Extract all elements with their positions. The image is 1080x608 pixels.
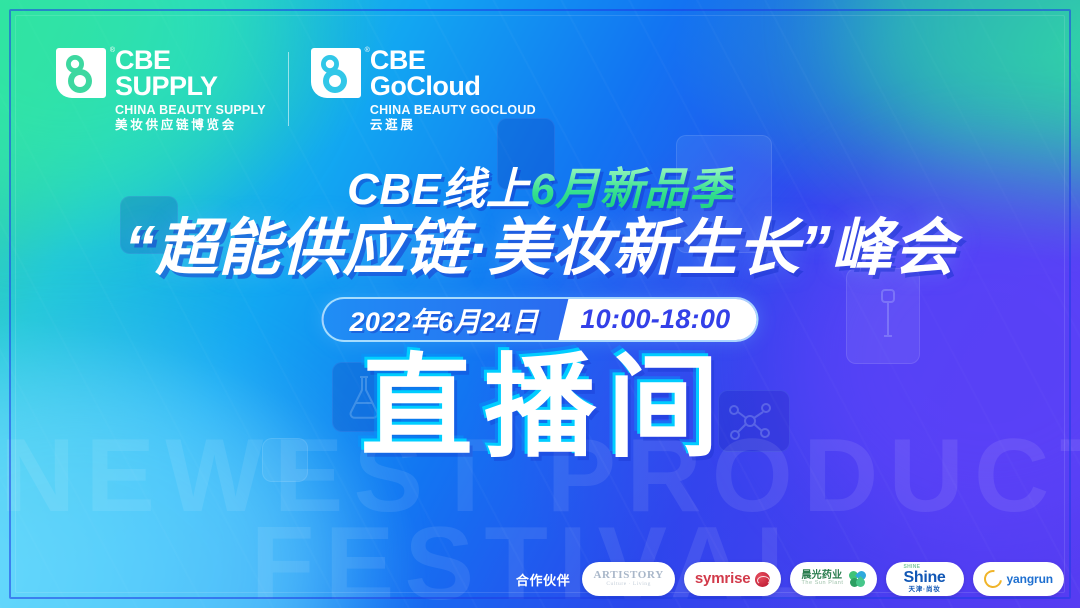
- partner-sub: Culture · Living: [593, 582, 663, 588]
- logo-line-2: SUPPLY: [115, 74, 266, 100]
- cbe-monogram-icon: ®: [56, 48, 106, 98]
- partners-row: 合作伙伴 ARTISTORY Culture · Living symrise …: [516, 562, 1064, 596]
- logo-english: CHINA BEAUTY GOCLOUD: [370, 104, 536, 116]
- ring-icon: [980, 566, 1005, 591]
- logo-cbe-gocloud: ® CBE GoCloud CHINA BEAUTY GOCLOUD 云逛展: [311, 48, 536, 131]
- partner-name-text: ARTISTORY: [593, 569, 663, 581]
- event-time: 10:00-18:00: [558, 299, 756, 340]
- logo-english: CHINA BEAUTY SUPPLY: [115, 104, 266, 116]
- promo-poster: NEWEST PRODUCTS FESTIVAL ® CBE SUPPLY CH…: [0, 0, 1080, 608]
- globe-icon: [755, 572, 770, 587]
- headline-green-part: 6月新品季: [530, 165, 733, 214]
- cbe-mark-svg: [311, 48, 361, 98]
- logo-cbe-supply: ® CBE SUPPLY CHINA BEAUTY SUPPLY 美妆供应链博览…: [56, 48, 266, 131]
- schedule-badge: 2022年6月24日 10:00-18:00: [322, 297, 759, 342]
- partner-logo-shine[interactable]: SHINE Shine 天津·尚妆: [886, 562, 964, 596]
- logo-chinese: 云逛展: [370, 119, 536, 131]
- partner-name: ARTISTORY Culture · Living: [593, 570, 663, 587]
- logo-divider: [288, 52, 289, 126]
- headline-line-1: CBE线上6月新品季: [0, 168, 1080, 212]
- headline-white-part: CBE线上: [347, 165, 530, 214]
- partner-name: 晨光药业 The Sun Plant: [801, 571, 843, 587]
- partner-sub: The Sun Plant: [801, 581, 843, 587]
- partner-name-text: 晨光药业: [801, 570, 842, 581]
- partner-logo-yangrun[interactable]: yangrun: [973, 562, 1065, 596]
- partner-name: SHINE Shine 天津·尚妆: [904, 565, 946, 594]
- event-date: 2022年6月24日: [324, 299, 559, 340]
- brand-logo-row: ® CBE SUPPLY CHINA BEAUTY SUPPLY 美妆供应链博览…: [56, 48, 536, 131]
- partner-name-text: yangrun: [1007, 573, 1054, 586]
- partner-logo-chenguang[interactable]: 晨光药业 The Sun Plant: [790, 562, 876, 596]
- registered-mark: ®: [110, 47, 115, 54]
- partner-logo-symrise[interactable]: symrise: [684, 562, 782, 596]
- partner-sub: 天津·尚妆: [904, 587, 946, 594]
- partner-logo-artistory[interactable]: ARTISTORY Culture · Living: [582, 562, 674, 596]
- cbe-supply-wordmark: CBE SUPPLY CHINA BEAUTY SUPPLY 美妆供应链博览会: [115, 48, 266, 131]
- live-room-title: 直播间: [0, 352, 1080, 464]
- dropper-icon: [873, 288, 903, 344]
- partner-name-text: Shine: [904, 569, 946, 586]
- clover-icon: [849, 571, 866, 587]
- partners-label: 合作伙伴: [516, 570, 571, 589]
- cbe-gocloud-wordmark: CBE GoCloud CHINA BEAUTY GOCLOUD 云逛展: [370, 48, 536, 131]
- headline-line-2: “超能供应链·美妆新生长”峰会: [0, 216, 1080, 281]
- cbe-monogram-icon: ®: [311, 48, 361, 98]
- cbe-mark-svg: [56, 48, 106, 98]
- partner-name-text: symrise: [695, 571, 751, 587]
- registered-mark: ®: [365, 47, 370, 54]
- logo-line-2: GoCloud: [370, 74, 536, 100]
- logo-chinese: 美妆供应链博览会: [115, 119, 266, 131]
